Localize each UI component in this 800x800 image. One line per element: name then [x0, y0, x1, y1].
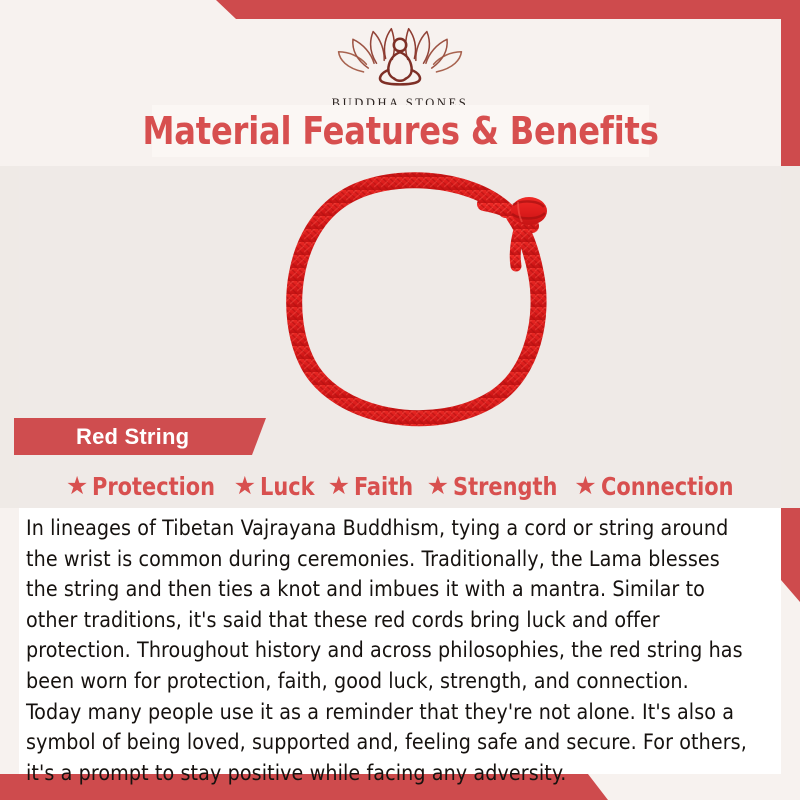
feature-item-faith: ★ Faith	[319, 472, 418, 501]
star-icon: ★	[66, 474, 88, 499]
feature-item-strength: ★ Strength	[418, 472, 566, 501]
product-image-red-string-bracelet	[248, 164, 584, 436]
star-icon: ★	[574, 474, 596, 499]
page-title: Material Features & Benefits	[142, 109, 658, 153]
brand-lockup: BUDDHA STONES	[0, 22, 800, 111]
feature-item-luck: ★ Luck	[225, 472, 319, 501]
product-label-banner: Red String	[14, 418, 266, 455]
feature-list: ★ Protection ★ Luck ★ Faith ★ Strength ★…	[0, 466, 800, 506]
infographic-page: BUDDHA STONES Material Features & Benefi…	[0, 0, 800, 800]
star-icon: ★	[328, 474, 350, 499]
feature-item-connection: ★ Connection	[565, 472, 743, 501]
decor-top-red-band	[0, 0, 800, 19]
feature-label: Luck	[260, 472, 315, 501]
star-icon: ★	[427, 474, 449, 499]
product-label: Red String	[14, 424, 189, 450]
star-icon: ★	[234, 474, 256, 499]
feature-label: Strength	[453, 472, 557, 501]
feature-label: Faith	[354, 472, 413, 501]
bracelet-illustration-icon	[248, 164, 584, 436]
feature-label: Protection	[92, 472, 215, 501]
sliding-knot	[511, 197, 547, 225]
feature-item-protection: ★ Protection	[57, 472, 225, 501]
feature-label: Connection	[601, 472, 734, 501]
lotus-meditation-logo-icon	[325, 22, 475, 94]
description-paragraph: In lineages of Tibetan Vajrayana Buddhis…	[26, 514, 748, 789]
description-panel: In lineages of Tibetan Vajrayana Buddhis…	[19, 508, 781, 774]
title-banner: Material Features & Benefits	[152, 105, 649, 157]
